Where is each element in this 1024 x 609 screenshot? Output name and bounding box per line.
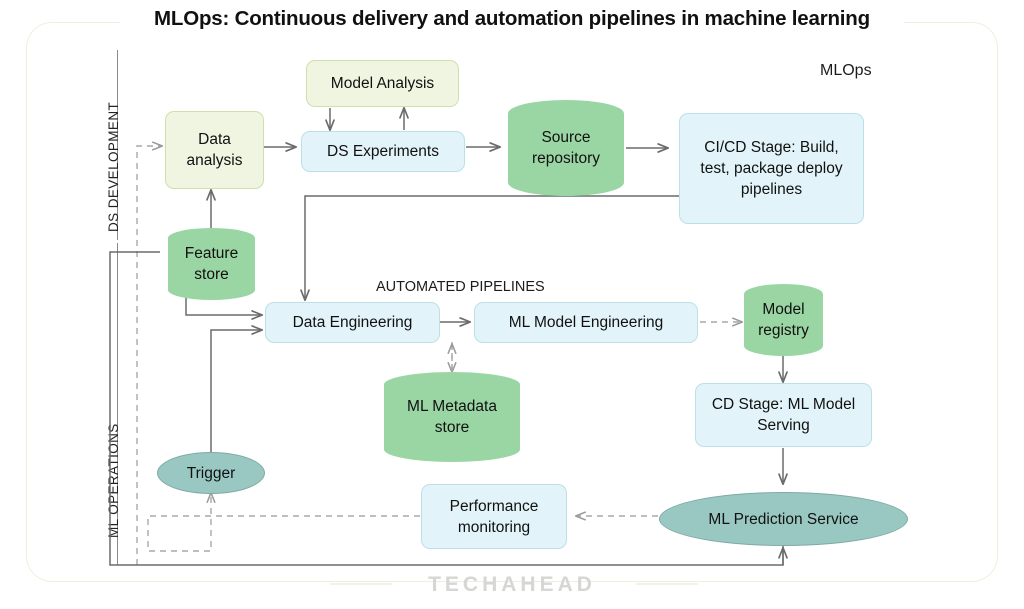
node-feature-store-label: Feature store [176,243,247,285]
node-ml-metadata-store-label: ML Metadata store [392,396,512,438]
diagram-canvas: MLOps: Continuous delivery and automatio… [0,0,1024,609]
node-ml-metadata-store[interactable]: ML Metadata store [384,372,520,462]
watermark-rule-right [636,583,698,585]
watermark: TECHAHEAD [0,573,1024,597]
node-feature-store[interactable]: Feature store [168,228,255,300]
node-performance-monitoring[interactable]: Performance monitoring [421,484,567,549]
node-model-registry[interactable]: Model registry [744,284,823,356]
node-trigger[interactable]: Trigger [157,452,265,494]
node-model-registry-label: Model registry [752,299,815,341]
edge-cicd-to-data-engineering [305,196,679,300]
edge-performance-monitoring-to-trigger [148,493,420,551]
node-data-engineering-label: Data Engineering [293,312,413,333]
edge-trigger-to-data-engineering [211,330,262,455]
node-source-repository-label: Source repository [516,127,616,169]
node-data-analysis[interactable]: Data analysis [165,111,264,189]
node-source-repository[interactable]: Source repository [508,100,624,196]
node-ds-experiments[interactable]: DS Experiments [301,131,465,172]
node-ml-model-engineering-label: ML Model Engineering [509,312,664,333]
node-ml-prediction-service[interactable]: ML Prediction Service [659,492,908,546]
node-data-engineering[interactable]: Data Engineering [265,302,440,343]
edge-lane-entry-to-data-analysis [137,146,162,565]
node-model-analysis-label: Model Analysis [331,73,434,94]
node-cicd-stage[interactable]: CI/CD Stage: Build, test, package deploy… [679,113,864,224]
node-cicd-stage-label: CI/CD Stage: Build, test, package deploy… [692,137,851,200]
node-ml-prediction-service-label: ML Prediction Service [708,509,858,530]
node-cd-stage[interactable]: CD Stage: ML Model Serving [695,383,872,447]
node-model-analysis[interactable]: Model Analysis [306,60,459,107]
edge-feature-store-to-data-engineering [186,298,262,315]
node-performance-monitoring-label: Performance monitoring [430,496,558,538]
node-trigger-label: Trigger [187,463,236,484]
node-cd-stage-label: CD Stage: ML Model Serving [704,394,863,436]
node-ds-experiments-label: DS Experiments [327,141,439,162]
node-data-analysis-label: Data analysis [174,129,255,171]
node-ml-model-engineering[interactable]: ML Model Engineering [474,302,698,343]
